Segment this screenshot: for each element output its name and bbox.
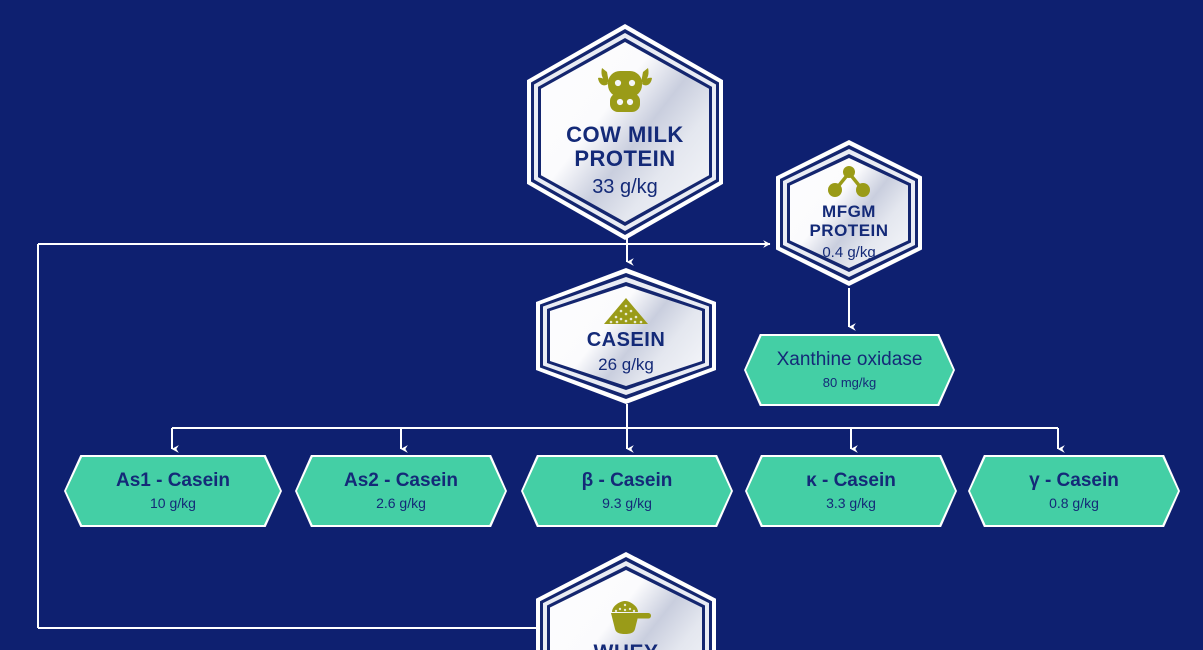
node-mfgm-protein[interactable]: MFGM PROTEIN 0.4 g/kg: [776, 140, 922, 286]
box-value: 80 mg/kg: [777, 375, 923, 390]
node-title-line1: WHEY: [578, 642, 675, 650]
node-content: CASEIN 26 g/kg: [536, 297, 716, 375]
molecule-icon: [826, 165, 872, 199]
node-content: MFGM PROTEIN 0.4 g/kg: [776, 165, 922, 261]
box-label: Xanthine oxidase: [777, 350, 923, 371]
box-content: β - Casein 9.3 g/kg: [582, 471, 673, 512]
box-label: γ - Casein: [1029, 471, 1119, 492]
node-value: 26 g/kg: [598, 355, 654, 375]
box-label: κ - Casein: [806, 471, 896, 492]
node-kappa-casein[interactable]: κ - Casein 3.3 g/kg: [745, 455, 957, 527]
scoop-powder-icon: [600, 596, 652, 636]
node-value: 33 g/kg: [592, 176, 658, 199]
box-value: 10 g/kg: [116, 495, 230, 511]
box-value: 9.3 g/kg: [582, 495, 673, 511]
node-beta-casein[interactable]: β - Casein 9.3 g/kg: [521, 455, 733, 527]
node-title-line2: PROTEIN: [809, 222, 888, 240]
box-label: As1 - Casein: [116, 471, 230, 492]
box-content: Xanthine oxidase 80 mg/kg: [777, 350, 923, 390]
box-content: γ - Casein 0.8 g/kg: [1029, 471, 1119, 512]
node-title-line1: COW MILK: [566, 123, 684, 147]
box-value: 2.6 g/kg: [344, 495, 458, 511]
box-label: As2 - Casein: [344, 471, 458, 492]
node-title-line2: PROTEIN: [566, 147, 684, 171]
cow-head-icon: [596, 65, 654, 115]
node-xanthine-oxidase[interactable]: Xanthine oxidase 80 mg/kg: [744, 334, 955, 406]
node-content: WHEY PROTEIN: [536, 596, 716, 650]
node-title: COW MILK PROTEIN: [566, 123, 684, 171]
box-content: κ - Casein 3.3 g/kg: [806, 471, 896, 512]
box-content: As2 - Casein 2.6 g/kg: [344, 471, 458, 512]
node-value: 0.4 g/kg: [822, 244, 875, 261]
node-as2-casein[interactable]: As2 - Casein 2.6 g/kg: [295, 455, 507, 527]
box-value: 0.8 g/kg: [1029, 495, 1119, 511]
node-cow-milk-protein[interactable]: COW MILK PROTEIN 33 g/kg: [527, 24, 723, 240]
node-content: COW MILK PROTEIN 33 g/kg: [527, 65, 723, 200]
node-as1-casein[interactable]: As1 - Casein 10 g/kg: [64, 455, 282, 527]
box-content: As1 - Casein 10 g/kg: [116, 471, 230, 512]
node-title-line1: MFGM: [809, 203, 888, 221]
node-gamma-casein[interactable]: γ - Casein 0.8 g/kg: [968, 455, 1180, 527]
node-title: WHEY PROTEIN: [578, 642, 675, 650]
node-whey-protein[interactable]: WHEY PROTEIN: [536, 552, 716, 650]
box-value: 3.3 g/kg: [806, 495, 896, 511]
node-title: MFGM PROTEIN: [809, 203, 888, 240]
box-label: β - Casein: [582, 471, 673, 492]
powder-mound-icon: [600, 297, 652, 327]
node-casein[interactable]: CASEIN 26 g/kg: [536, 268, 716, 404]
node-title: CASEIN: [587, 330, 666, 352]
diagram-canvas: COW MILK PROTEIN 33 g/kg: [0, 0, 1203, 650]
node-title-line1: CASEIN: [587, 330, 666, 352]
